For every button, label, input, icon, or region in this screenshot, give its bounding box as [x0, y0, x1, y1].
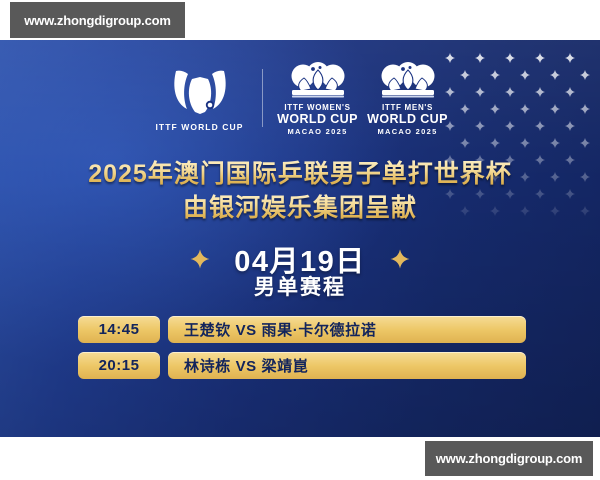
ittf-world-cup-logo: ITTF WORLD CUP: [152, 65, 248, 132]
womens-world-cup-logo: ITTF WOMEN'S WORLD CUP MACAO 2025: [277, 60, 359, 136]
mens-logo-line1: ITTF MEN'S: [382, 103, 433, 112]
poster-title: 2025年澳门国际乒联男子单打世界杯 由银河娱乐集团呈献: [0, 157, 600, 225]
poster-panel: ITTF WORLD CUP ITTF WOMEN'S WORLD CUP MA…: [0, 40, 600, 437]
ittf-logo-caption: ITTF WORLD CUP: [155, 122, 243, 132]
match-time: 14:45: [78, 316, 160, 343]
womens-logo-line1: ITTF WOMEN'S: [284, 103, 350, 112]
watermark-bottom: www.zhongdigroup.com: [425, 441, 593, 476]
match-players: 林诗栋 VS 梁靖崑: [168, 352, 526, 379]
star-right-icon: [390, 249, 410, 269]
womens-cup-emblem-icon: [287, 60, 349, 102]
star-left-icon: [190, 249, 210, 269]
match-players: 王楚钦 VS 雨果·卡尔德拉诺: [168, 316, 526, 343]
table-row[interactable]: 20:15 林诗栋 VS 梁靖崑: [78, 352, 526, 379]
ittf-trophy-icon: [169, 65, 231, 119]
schedule-subtitle: 男单赛程: [0, 271, 600, 301]
logo-divider: [262, 69, 263, 127]
womens-logo-line2: WORLD CUP: [277, 113, 358, 126]
mens-logo-line3: MACAO 2025: [377, 127, 437, 136]
logo-row: ITTF WORLD CUP ITTF WOMEN'S WORLD CUP MA…: [0, 52, 600, 144]
mens-logo-line2: WORLD CUP: [367, 113, 448, 126]
title-line-2: 由银河娱乐集团呈献: [0, 191, 600, 225]
mens-world-cup-logo: ITTF MEN'S WORLD CUP MACAO 2025: [367, 60, 449, 136]
womens-logo-line3: MACAO 2025: [287, 127, 347, 136]
title-line-1: 2025年澳门国际乒联男子单打世界杯: [0, 157, 600, 191]
table-row[interactable]: 14:45 王楚钦 VS 雨果·卡尔德拉诺: [78, 316, 526, 343]
match-time: 20:15: [78, 352, 160, 379]
match-schedule-list: 14:45 王楚钦 VS 雨果·卡尔德拉诺 20:15 林诗栋 VS 梁靖崑: [78, 316, 526, 379]
watermark-top: www.zhongdigroup.com: [10, 2, 185, 38]
mens-cup-emblem-icon: [377, 60, 439, 102]
